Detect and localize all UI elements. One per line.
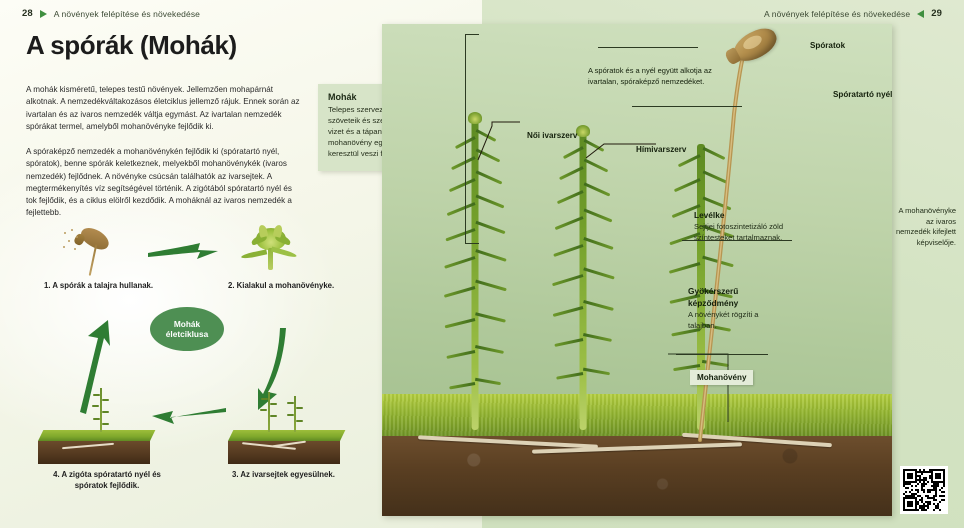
- label-sporophyte-note: A spóratok és a nyél együtt alkotja az i…: [588, 66, 744, 87]
- lifecycle-caption-2: 2. Kialakul a mohanövényke.: [228, 281, 334, 292]
- label-sporangium: Spóratok: [810, 41, 845, 52]
- gametophyte-rosette-illustration: [238, 222, 304, 280]
- label-male-organ: Hímivarszerv: [636, 145, 686, 156]
- label-rhizoid: Gyökérszerű képződmény A növénykét rögzí…: [688, 286, 782, 332]
- label-leaflet: Levélke Sejtjei fotoszintetizáló zöld sz…: [694, 210, 794, 244]
- label-rhizoid-title-1: Gyökérszerű: [688, 286, 738, 296]
- spore-capsule-illustration: [62, 228, 116, 280]
- leader-sporangium: [598, 47, 698, 48]
- soil-block-step-4: [38, 430, 150, 464]
- lifecycle-center-label: Mohák életciklusa: [150, 307, 224, 351]
- lifecycle-caption-1: 1. A spórák a talajra hullanak.: [44, 281, 153, 292]
- triangle-left-icon: [917, 10, 924, 18]
- page-number-left: 28: [22, 8, 33, 19]
- label-seta: Spóratartó nyél: [833, 90, 892, 101]
- leader-seta: [632, 106, 742, 107]
- label-female-organ: Női ivarszerv: [527, 131, 577, 142]
- running-head-left: 28 A növények felépítése és növekedése: [22, 8, 200, 19]
- body-paragraph-2: A spóraképző nemzedék a mohanövénykén fe…: [26, 146, 304, 220]
- body-paragraph-1: A mohák kisméretű, telepes testű növénye…: [26, 84, 304, 133]
- bracket-bottom-sporophyte: [465, 243, 479, 244]
- bracket-top-sporophyte: [465, 34, 479, 35]
- label-rhizoid-title-2: képződmény: [688, 298, 738, 308]
- page-title: A spórák (Mohák): [26, 30, 237, 61]
- label-leaflet-title: Levélke: [694, 210, 724, 220]
- triangle-right-icon: [40, 10, 47, 18]
- moss-stalk-3b: [294, 396, 296, 432]
- moss-stalk-3a: [268, 392, 270, 432]
- moss-stalk-4: [100, 388, 102, 432]
- soil-block-step-3: [228, 430, 340, 464]
- running-head-right-title: A növények felépítése és növekedése: [764, 9, 910, 19]
- qr-code[interactable]: [900, 466, 948, 514]
- lifecycle-center-label-line2: életciklusa: [166, 329, 208, 339]
- leader-female-organ: [462, 120, 522, 166]
- moss-illustration-panel: [382, 24, 892, 516]
- lifecycle-caption-3: 3. Az ivarsejtek egyesülnek.: [232, 470, 335, 481]
- label-leaflet-desc: Sejtjei fotoszintetizáló zöld színtestek…: [694, 222, 783, 242]
- lifecycle-caption-4: 4. A zigóta spóratartó nyél és spóratok …: [42, 470, 172, 491]
- textbook-spread: 28 A növények felépítése és növekedése A…: [0, 0, 964, 528]
- lifecycle-arrow-4: [76, 318, 120, 414]
- moss-plant-male: [550, 130, 616, 430]
- label-moss-plant: Mohanövény: [690, 370, 753, 385]
- lifecycle-arrow-1: [148, 240, 220, 262]
- page-number-right: 29: [931, 8, 942, 19]
- leader-rhizoid-hook: [668, 352, 748, 432]
- lifecycle-arrow-3: [148, 404, 226, 426]
- label-rhizoid-desc: A növénykét rögzíti a talajban.: [688, 310, 759, 330]
- label-gametophyte-note: A mohanövényke az ivaros nemzedék kifejl…: [894, 206, 956, 249]
- lifecycle-center-label-line1: Mohák: [174, 319, 200, 329]
- running-head-right: A növények felépítése és növekedése 29: [764, 8, 942, 19]
- running-head-left-title: A növények felépítése és növekedése: [54, 9, 200, 19]
